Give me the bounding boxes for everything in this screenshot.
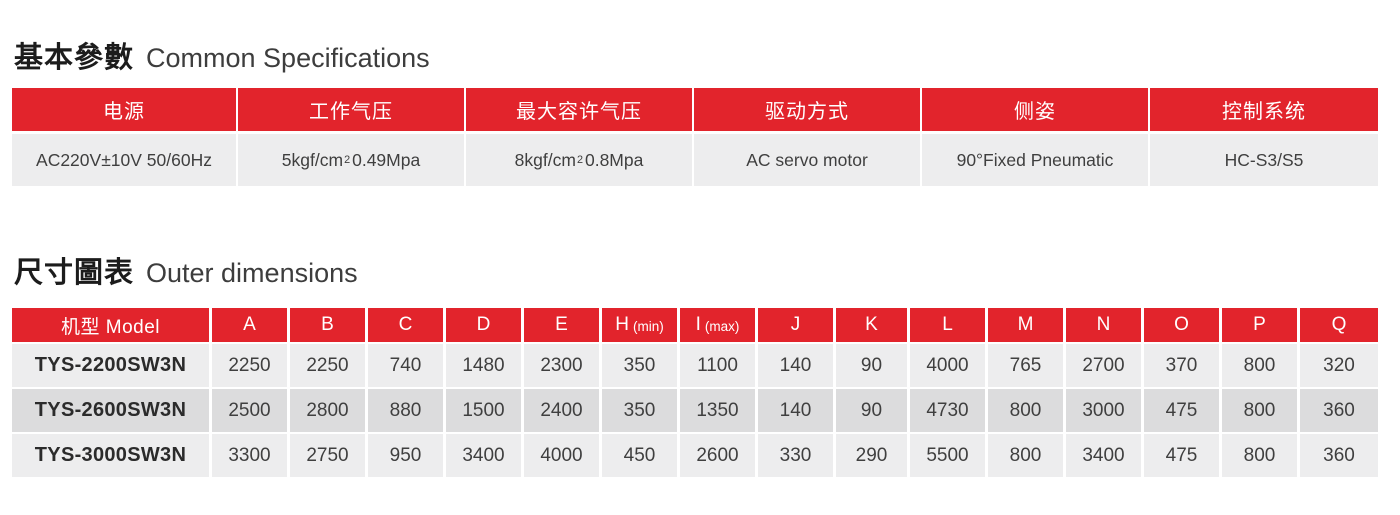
header-label: 机型 Model (61, 312, 160, 339)
cell-n: 2700 (1066, 344, 1144, 387)
value-cell-working-pressure: 5kgf/cm20.49Mpa (238, 134, 466, 186)
header-label: A (243, 314, 256, 336)
cell-d: 1480 (446, 344, 524, 387)
table-header-row: 电源 工作气压 最大容许气压 驱动方式 侧姿 控制系统 (12, 88, 1378, 131)
cell-i: 2600 (680, 434, 758, 477)
header-label: H (615, 314, 629, 336)
cell-a: 3300 (212, 434, 290, 477)
value-cell-max-pressure: 8kgf/cm20.8Mpa (466, 134, 694, 186)
table-row: TYS-2200SW3N2250225074014802300350110014… (12, 344, 1378, 387)
table-row: TYS-3000SW3N3300275095034004000450260033… (12, 434, 1378, 477)
section-heading-outer-dimensions: 尺寸圖表Outer dimensions (14, 259, 358, 288)
max-pressure-main: 8kgf/cm (515, 150, 576, 171)
header-label: B (321, 314, 334, 336)
cell-b: 2250 (290, 344, 368, 387)
cell-model: TYS-2600SW3N (12, 389, 212, 432)
header-cell-p: P (1222, 308, 1300, 342)
cell-k: 90 (836, 344, 910, 387)
cell-j: 140 (758, 389, 836, 432)
header-cell-b: B (290, 308, 368, 342)
header-cell-max-pressure: 最大容许气压 (466, 88, 694, 131)
cell-c: 950 (368, 434, 446, 477)
header-cell-i: I(max) (680, 308, 758, 342)
cell-e: 4000 (524, 434, 602, 477)
section-heading-en: Common Specifications (146, 43, 430, 73)
spec-sheet-page: 基本參數Common Specifications 电源 工作气压 最大容许气压… (0, 0, 1400, 515)
cell-i: 1350 (680, 389, 758, 432)
table-header-row: 机型 ModelABCDEH(min)I(max)JKLMNOPQ (12, 308, 1378, 342)
cell-b: 2750 (290, 434, 368, 477)
cell-h: 350 (602, 389, 680, 432)
cell-d: 3400 (446, 434, 524, 477)
cell-n: 3000 (1066, 389, 1144, 432)
header-label: M (1018, 314, 1034, 336)
header-cell-d: D (446, 308, 524, 342)
header-label: E (555, 314, 568, 336)
cell-m: 800 (988, 389, 1066, 432)
value-cell-control-system: HC-S3/S5 (1150, 134, 1378, 186)
cell-j: 140 (758, 344, 836, 387)
cell-m: 800 (988, 434, 1066, 477)
cell-d: 1500 (446, 389, 524, 432)
cell-j: 330 (758, 434, 836, 477)
header-cell-drive-method: 驱动方式 (694, 88, 922, 131)
header-cell-k: K (836, 308, 910, 342)
table-value-row: AC220V±10V 50/60Hz 5kgf/cm20.49Mpa 8kgf/… (12, 134, 1378, 186)
cell-model: TYS-3000SW3N (12, 434, 212, 477)
cell-l: 4000 (910, 344, 988, 387)
working-pressure-main: 5kgf/cm (282, 150, 343, 171)
header-label: D (477, 314, 491, 336)
header-label: N (1097, 314, 1111, 336)
header-cell-m: M (988, 308, 1066, 342)
cell-k: 90 (836, 389, 910, 432)
cell-p: 800 (1222, 389, 1300, 432)
header-cell-a: A (212, 308, 290, 342)
header-cell-n: N (1066, 308, 1144, 342)
cell-o: 370 (1144, 344, 1222, 387)
cell-model: TYS-2200SW3N (12, 344, 212, 387)
cell-l: 5500 (910, 434, 988, 477)
cell-i: 1100 (680, 344, 758, 387)
header-label: K (865, 314, 878, 336)
cell-b: 2800 (290, 389, 368, 432)
header-label: L (942, 314, 953, 336)
max-pressure-tail: 0.8Mpa (585, 150, 643, 171)
cell-k: 290 (836, 434, 910, 477)
cell-c: 880 (368, 389, 446, 432)
header-cell-working-pressure: 工作气压 (238, 88, 466, 131)
value-cell-drive-method: AC servo motor (694, 134, 922, 186)
cell-h: 450 (602, 434, 680, 477)
header-cell-o: O (1144, 308, 1222, 342)
header-label: P (1253, 314, 1266, 336)
cell-p: 800 (1222, 344, 1300, 387)
header-cell-q: Q (1300, 308, 1378, 342)
cell-e: 2400 (524, 389, 602, 432)
cell-o: 475 (1144, 389, 1222, 432)
cell-a: 2500 (212, 389, 290, 432)
header-label: I (696, 314, 701, 336)
section-heading-cn: 基本參數 (14, 42, 134, 74)
value-cell-posture: 90°Fixed Pneumatic (922, 134, 1150, 186)
value-cell-power: AC220V±10V 50/60Hz (12, 134, 238, 186)
header-label: Q (1332, 314, 1347, 336)
header-cell-c: C (368, 308, 446, 342)
header-cell-power: 电源 (12, 88, 238, 131)
header-cell-e: E (524, 308, 602, 342)
cell-l: 4730 (910, 389, 988, 432)
section-heading-cn: 尺寸圖表 (14, 257, 134, 289)
header-cell-model: 机型 Model (12, 308, 212, 342)
cell-q: 360 (1300, 389, 1378, 432)
header-sublabel: (min) (633, 319, 664, 334)
table-row: TYS-2600SW3N2500280088015002400350135014… (12, 389, 1378, 432)
cell-e: 2300 (524, 344, 602, 387)
common-specifications-table: 电源 工作气压 最大容许气压 驱动方式 侧姿 控制系统 AC220V±10V 5… (12, 88, 1378, 186)
cell-a: 2250 (212, 344, 290, 387)
header-cell-posture: 侧姿 (922, 88, 1150, 131)
outer-dimensions-table: 机型 ModelABCDEH(min)I(max)JKLMNOPQ TYS-22… (12, 308, 1378, 477)
header-cell-control-system: 控制系统 (1150, 88, 1378, 131)
table-body: TYS-2200SW3N2250225074014802300350110014… (12, 342, 1378, 477)
section-heading-en: Outer dimensions (146, 258, 358, 288)
cell-h: 350 (602, 344, 680, 387)
cell-o: 475 (1144, 434, 1222, 477)
header-cell-l: L (910, 308, 988, 342)
header-label: O (1174, 314, 1189, 336)
header-sublabel: (max) (705, 319, 740, 334)
cell-q: 320 (1300, 344, 1378, 387)
cell-m: 765 (988, 344, 1066, 387)
header-cell-j: J (758, 308, 836, 342)
cell-n: 3400 (1066, 434, 1144, 477)
cell-c: 740 (368, 344, 446, 387)
working-pressure-tail: 0.49Mpa (352, 150, 420, 171)
header-label: J (791, 314, 801, 336)
cell-q: 360 (1300, 434, 1378, 477)
cell-p: 800 (1222, 434, 1300, 477)
section-heading-common-specifications: 基本參數Common Specifications (14, 44, 430, 73)
header-label: C (399, 314, 413, 336)
header-cell-h: H(min) (602, 308, 680, 342)
